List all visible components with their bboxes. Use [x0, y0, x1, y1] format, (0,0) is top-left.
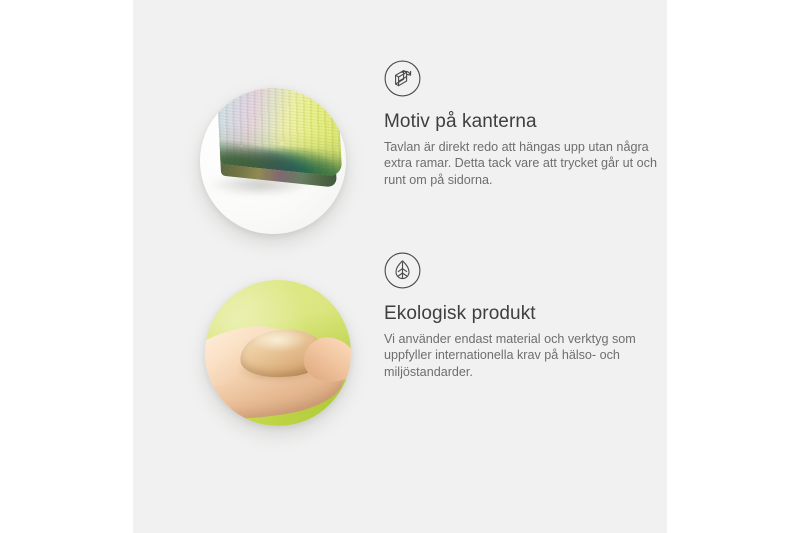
white-backdrop: [200, 88, 346, 234]
canvas-edge-print-icon: [384, 60, 421, 97]
feature-info-ekologisk: Ekologisk produkt Vi använder endast mat…: [384, 252, 659, 380]
feature-title: Ekologisk produkt: [384, 303, 659, 325]
canvas-print-object: [217, 88, 346, 229]
canvas-print-photo-circle: [200, 88, 346, 234]
wood-chips-photo-circle: [205, 280, 351, 426]
leaf-icon: [384, 252, 421, 289]
meadow-background: [205, 280, 351, 426]
canvas-print-photo: [200, 88, 346, 234]
product-info-banner: Motiv på kanterna Tavlan är direkt redo …: [0, 0, 800, 533]
wood-chips-highlight: [249, 328, 307, 351]
feature-title: Motiv på kanterna: [384, 111, 659, 133]
feature-info-motiv: Motiv på kanterna Tavlan är direkt redo …: [384, 60, 659, 188]
feature-description: Tavlan är direkt redo att hängas upp uta…: [384, 139, 659, 188]
canvas-front-face: [216, 88, 342, 177]
wood-chips-in-hands-photo: [205, 280, 351, 426]
feature-description: Vi använder endast material och verktyg …: [384, 331, 659, 380]
